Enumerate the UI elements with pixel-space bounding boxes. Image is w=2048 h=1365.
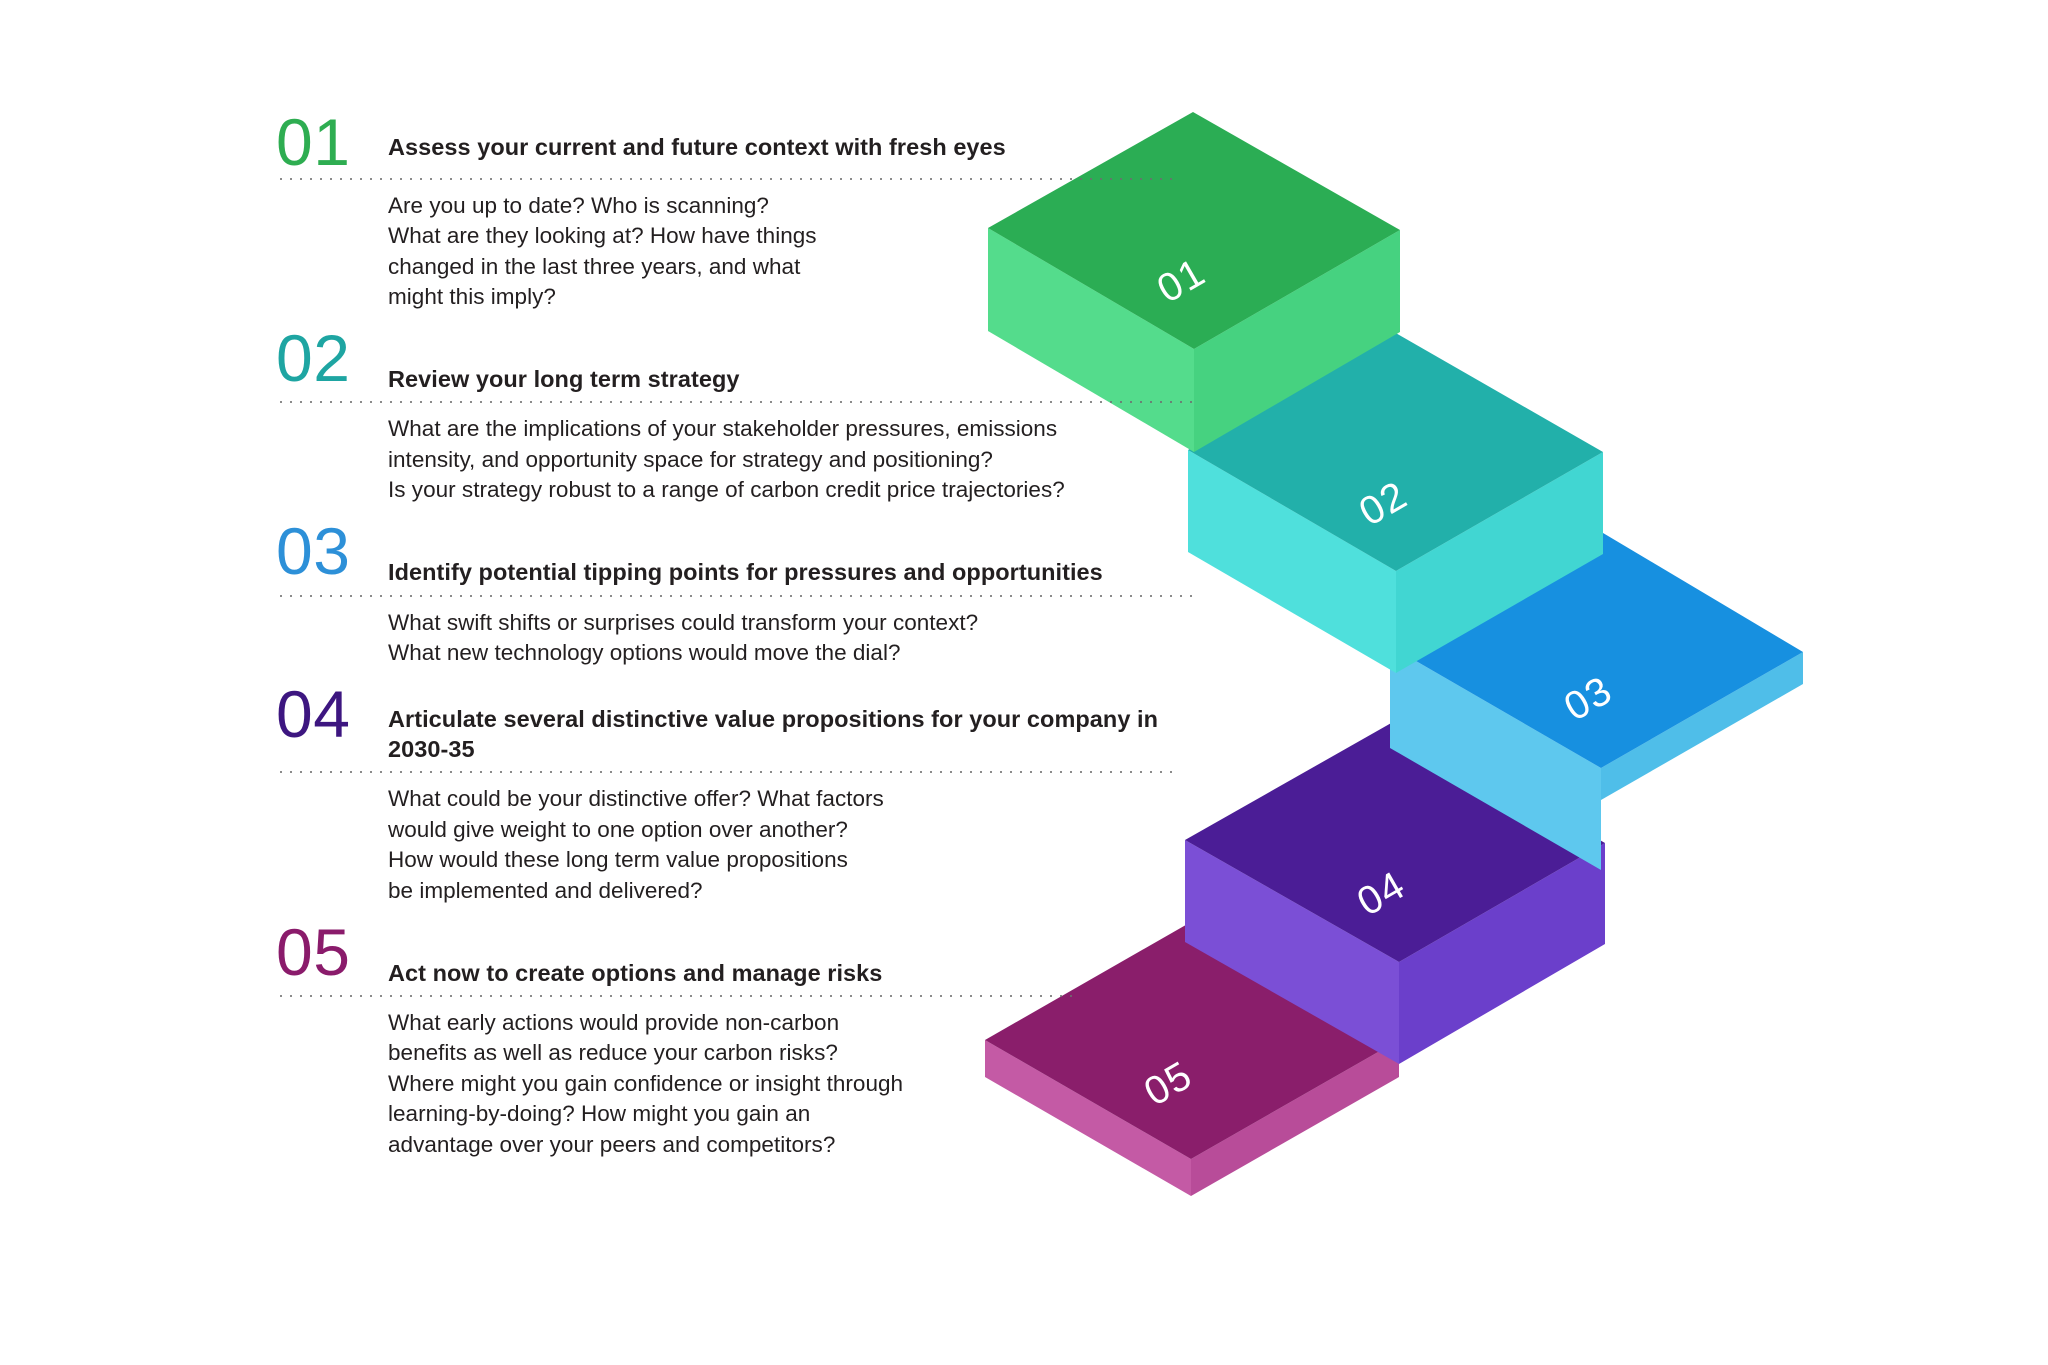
step-01-body: Are you up to date? Who is scanning? Wha…	[276, 180, 1196, 313]
step-03-side-left	[1390, 646, 1601, 870]
step-05-body: What early actions would provide non-car…	[276, 997, 1196, 1160]
step-04-number: 04	[276, 686, 388, 743]
step-03-side-right	[1601, 652, 1803, 800]
step-01-title: Assess your current and future context w…	[388, 118, 1006, 162]
step-02-body: What are the implications of your stakeh…	[276, 403, 1196, 505]
step-04-side-right	[1399, 843, 1605, 1064]
step-01-head: 01 Assess your current and future contex…	[276, 118, 1196, 171]
step-03-top	[1390, 530, 1803, 768]
step-04-title: Articulate several distinctive value pro…	[388, 690, 1196, 764]
step-item-02: 02 Review your long term strategy What a…	[276, 334, 1196, 505]
step-04-block-label: 04	[1350, 863, 1413, 925]
step-01-side-right	[1194, 230, 1400, 452]
step-02-head: 02 Review your long term strategy	[276, 334, 1196, 394]
step-item-03: 03 Identify potential tipping points for…	[276, 527, 1196, 668]
step-item-05: 05 Act now to create options and manage …	[276, 928, 1196, 1160]
step-01-number: 01	[276, 114, 388, 171]
step-04-head: 04 Articulate several distinctive value …	[276, 690, 1196, 764]
step-02-top	[1188, 332, 1603, 571]
step-05-number: 05	[276, 924, 388, 981]
step-item-04: 04 Articulate several distinctive value …	[276, 690, 1196, 906]
step-02-title: Review your long term strategy	[388, 334, 740, 394]
step-05-title: Act now to create options and manage ris…	[388, 928, 882, 988]
step-02-side-right	[1396, 452, 1603, 673]
step-block-02: 02	[1188, 332, 1603, 673]
step-item-01: 01 Assess your current and future contex…	[276, 118, 1196, 312]
step-03-title: Identify potential tipping points for pr…	[388, 527, 1103, 587]
steps-text-column: 01 Assess your current and future contex…	[276, 118, 1196, 1160]
infographic-canvas: 05 04 03 02 01	[0, 0, 2048, 1365]
step-02-block-label: 02	[1352, 473, 1415, 535]
step-02-number: 02	[276, 330, 388, 387]
step-block-04: 04	[1185, 722, 1605, 1064]
step-04-side-left	[1185, 840, 1399, 1064]
step-04-body: What could be your distinctive offer? Wh…	[276, 773, 1196, 906]
step-05-side-right	[1191, 1040, 1399, 1196]
step-03-number: 03	[276, 523, 388, 580]
step-05-head: 05 Act now to create options and manage …	[276, 928, 1196, 988]
step-03-head: 03 Identify potential tipping points for…	[276, 527, 1196, 587]
step-03-block-label: 03	[1557, 668, 1620, 730]
step-03-body: What swift shifts or surprises could tra…	[276, 597, 1196, 669]
step-block-03: 03	[1390, 530, 1803, 870]
step-04-top	[1185, 722, 1605, 962]
step-02-side-left	[1188, 450, 1396, 673]
